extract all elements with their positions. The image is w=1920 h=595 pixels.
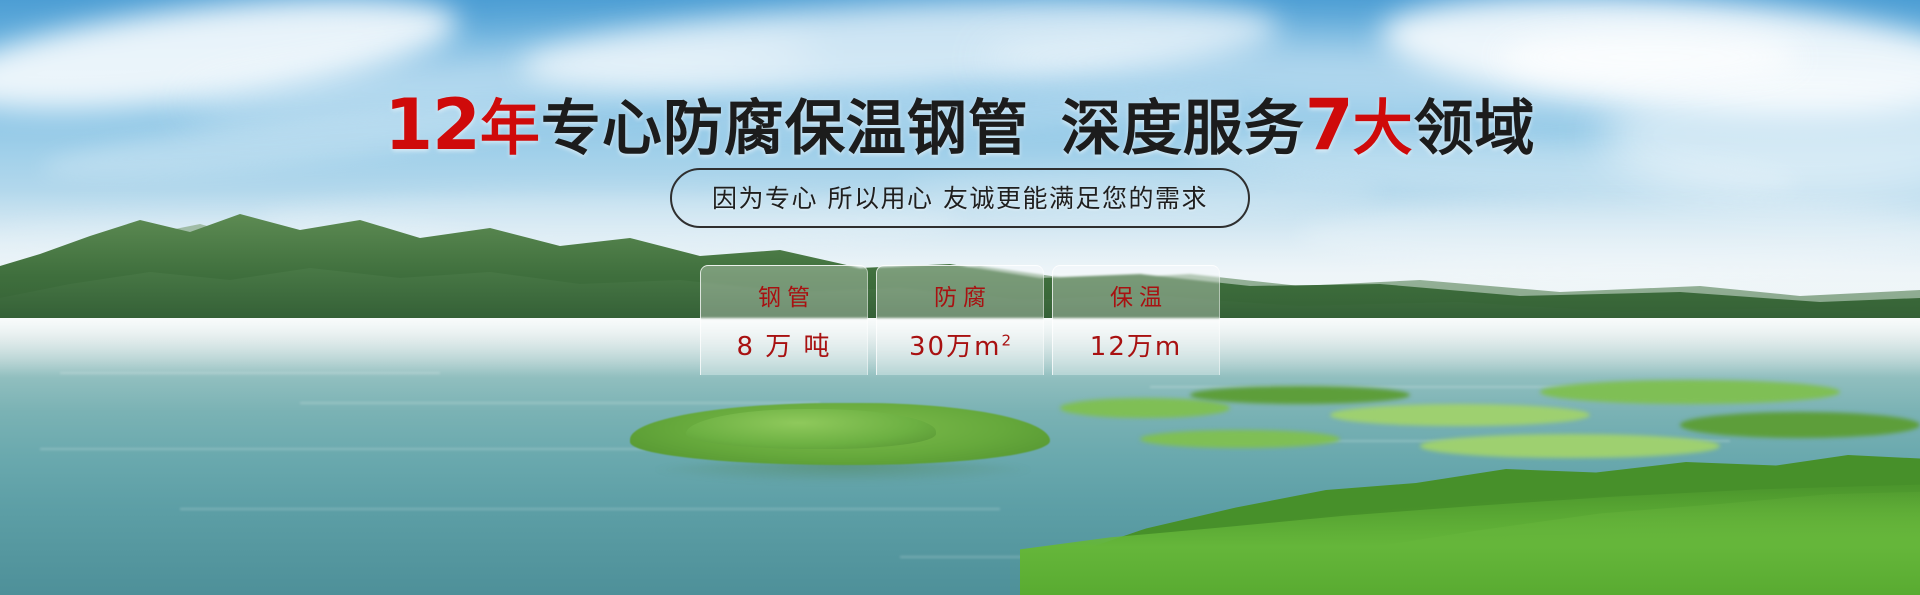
stat-value: 30万m2 xyxy=(909,326,1011,363)
stat-value-superscript: 2 xyxy=(1001,331,1011,349)
stat-label: 钢管 xyxy=(752,278,816,312)
stat-value-text: 30万m xyxy=(909,332,1001,362)
stat-label: 保温 xyxy=(1104,278,1168,312)
headline-years-unit: 年 xyxy=(480,94,541,164)
stat-card-anticorrosion[interactable]: 防腐 30万m2 xyxy=(876,265,1044,375)
stats-card-group: 钢管 8 万 吨 防腐 30万m2 保温 12万m xyxy=(0,265,1920,375)
stat-card-insulation[interactable]: 保温 12万m xyxy=(1052,265,1220,375)
banner-content: 12年专心防腐保温钢管深度服务7大领域 因为专心 所以用心 友诚更能满足您的需求… xyxy=(0,0,1920,595)
stat-value: 12万m xyxy=(1090,326,1182,363)
headline-fields-text: 领域 xyxy=(1414,94,1536,164)
subtitle-pill: 因为专心 所以用心 友诚更能满足您的需求 xyxy=(670,168,1250,228)
headline-main-text: 专心防腐保温钢管 xyxy=(541,94,1029,164)
stat-card-steel-pipe[interactable]: 钢管 8 万 吨 xyxy=(700,265,868,375)
stat-label: 防腐 xyxy=(928,278,992,312)
headline-fields-number: 7 xyxy=(1305,84,1353,166)
stat-value: 8 万 吨 xyxy=(736,326,831,363)
headline-years-number: 12 xyxy=(384,84,479,166)
stat-value-text: 12万m xyxy=(1090,332,1182,362)
subtitle-container: 因为专心 所以用心 友诚更能满足您的需求 xyxy=(0,168,1920,228)
page-title: 12年专心防腐保温钢管深度服务7大领域 xyxy=(0,80,1920,167)
hero-banner: 12年专心防腐保温钢管深度服务7大领域 因为专心 所以用心 友诚更能满足您的需求… xyxy=(0,0,1920,595)
headline-service-text: 深度服务 xyxy=(1061,94,1305,164)
headline-fields-unit: 大 xyxy=(1353,94,1414,164)
stat-value-text: 8 万 吨 xyxy=(736,332,831,362)
